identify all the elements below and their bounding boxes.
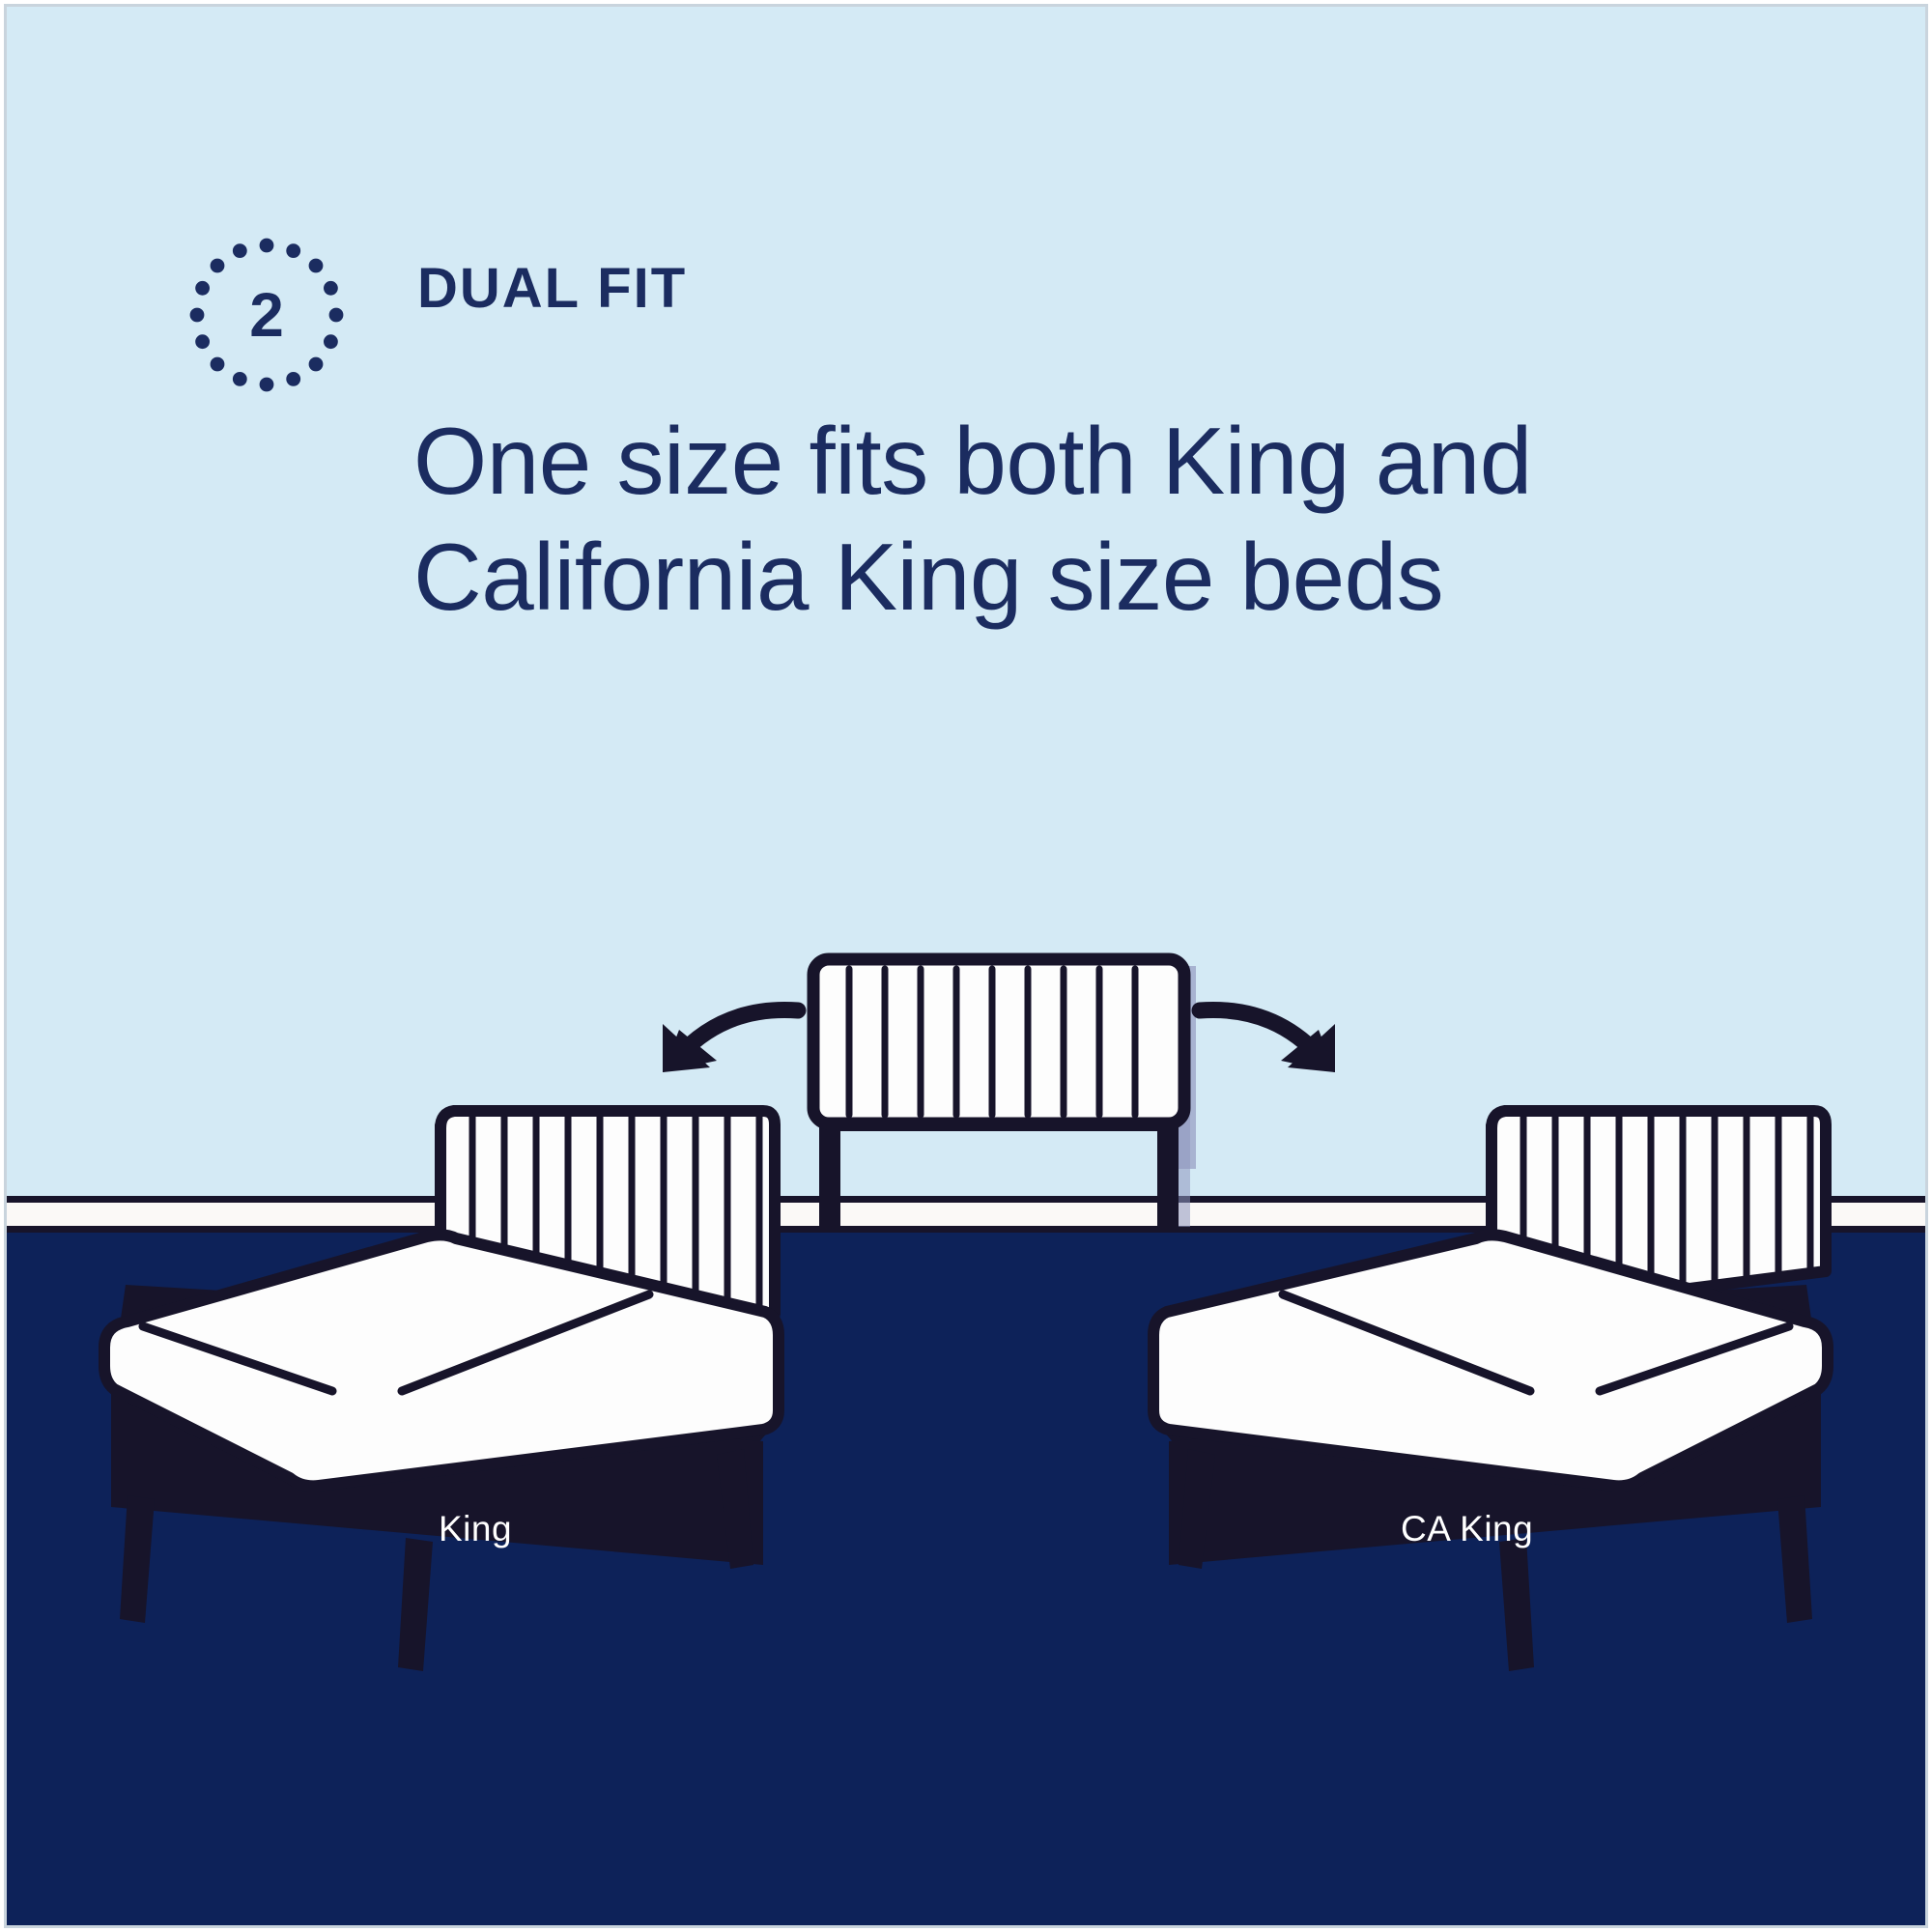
illustration-scene: 2 DUAL FIT One size fits both King and C… <box>0 0 1932 1932</box>
image-frame-border <box>4 4 1928 1928</box>
